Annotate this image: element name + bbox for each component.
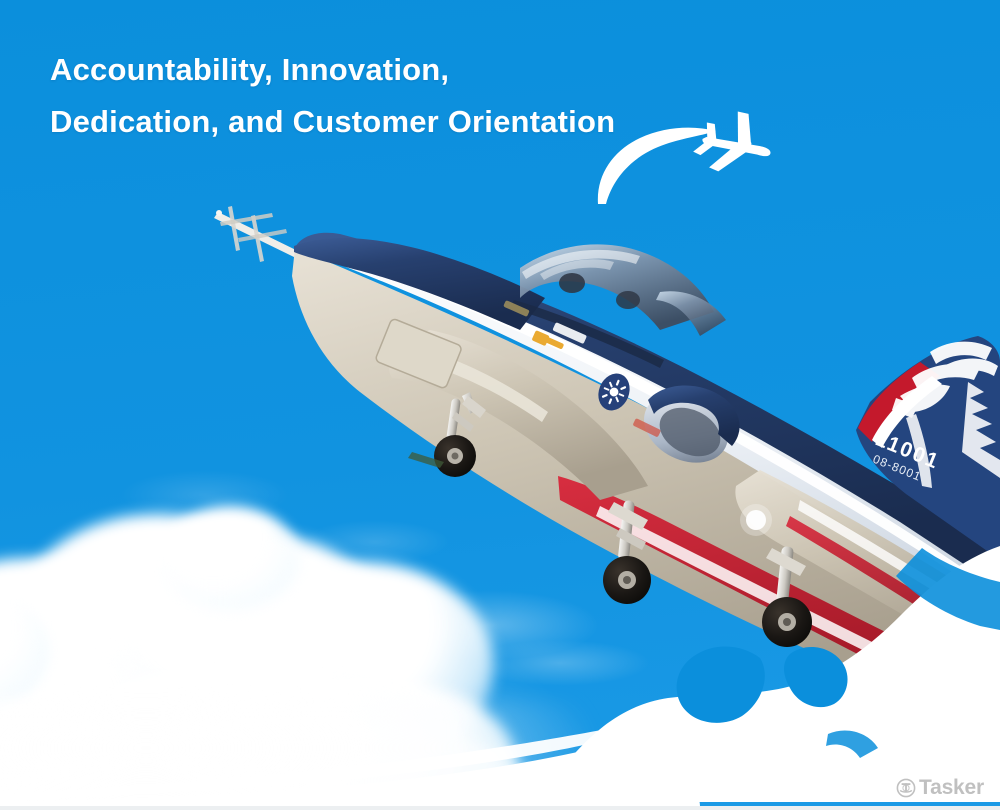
watermark: Tasker <box>896 777 984 798</box>
cloud-base <box>0 700 640 810</box>
airplane-icon <box>588 100 788 208</box>
bottom-strip <box>0 806 1000 810</box>
cloud-puff <box>160 506 300 610</box>
tasker-circle-logo <box>896 778 916 798</box>
poster-canvas: Accountability, Innovation, Dedication, … <box>0 0 1000 810</box>
watermark-label: Tasker <box>919 777 984 798</box>
